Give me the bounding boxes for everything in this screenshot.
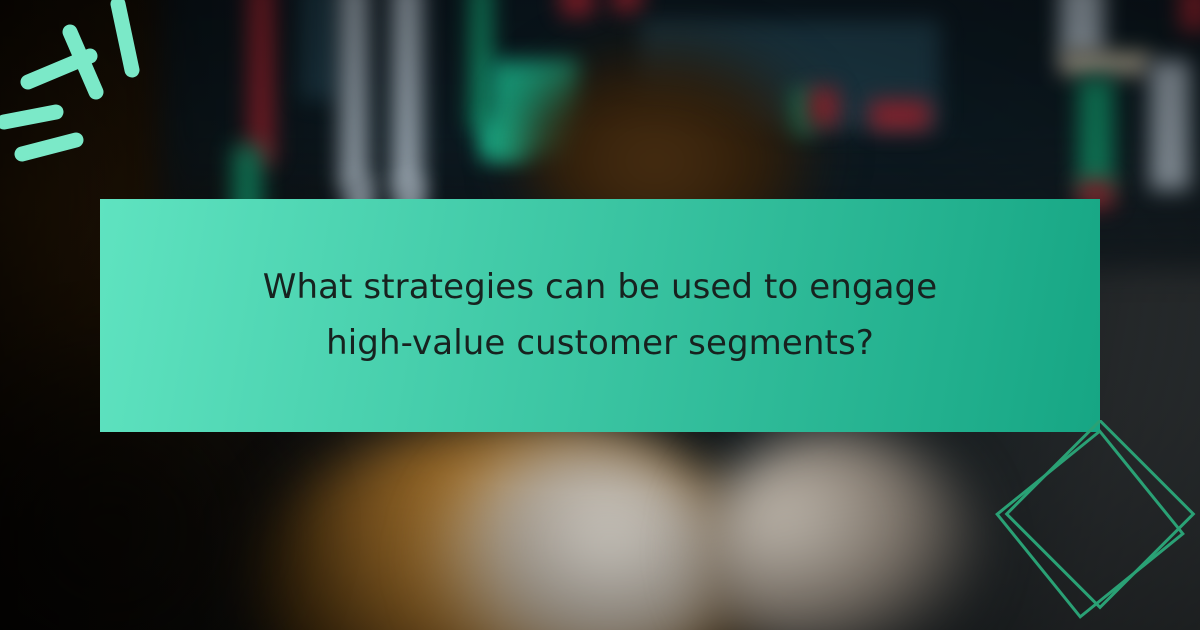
quote-card-canvas: What strategies can be used to engage hi… (0, 0, 1200, 630)
sparkle-ray-2 (22, 140, 76, 154)
quote-panel: What strategies can be used to engage hi… (100, 199, 1100, 432)
sparkle-burst-icon (0, 0, 182, 164)
sparkle-ray-5 (118, 4, 132, 70)
quote-text: What strategies can be used to engage hi… (250, 260, 950, 370)
sparkle-ray-1 (4, 112, 56, 122)
rotated-square-2 (997, 431, 1183, 617)
rotated-squares-icon (976, 420, 1200, 630)
